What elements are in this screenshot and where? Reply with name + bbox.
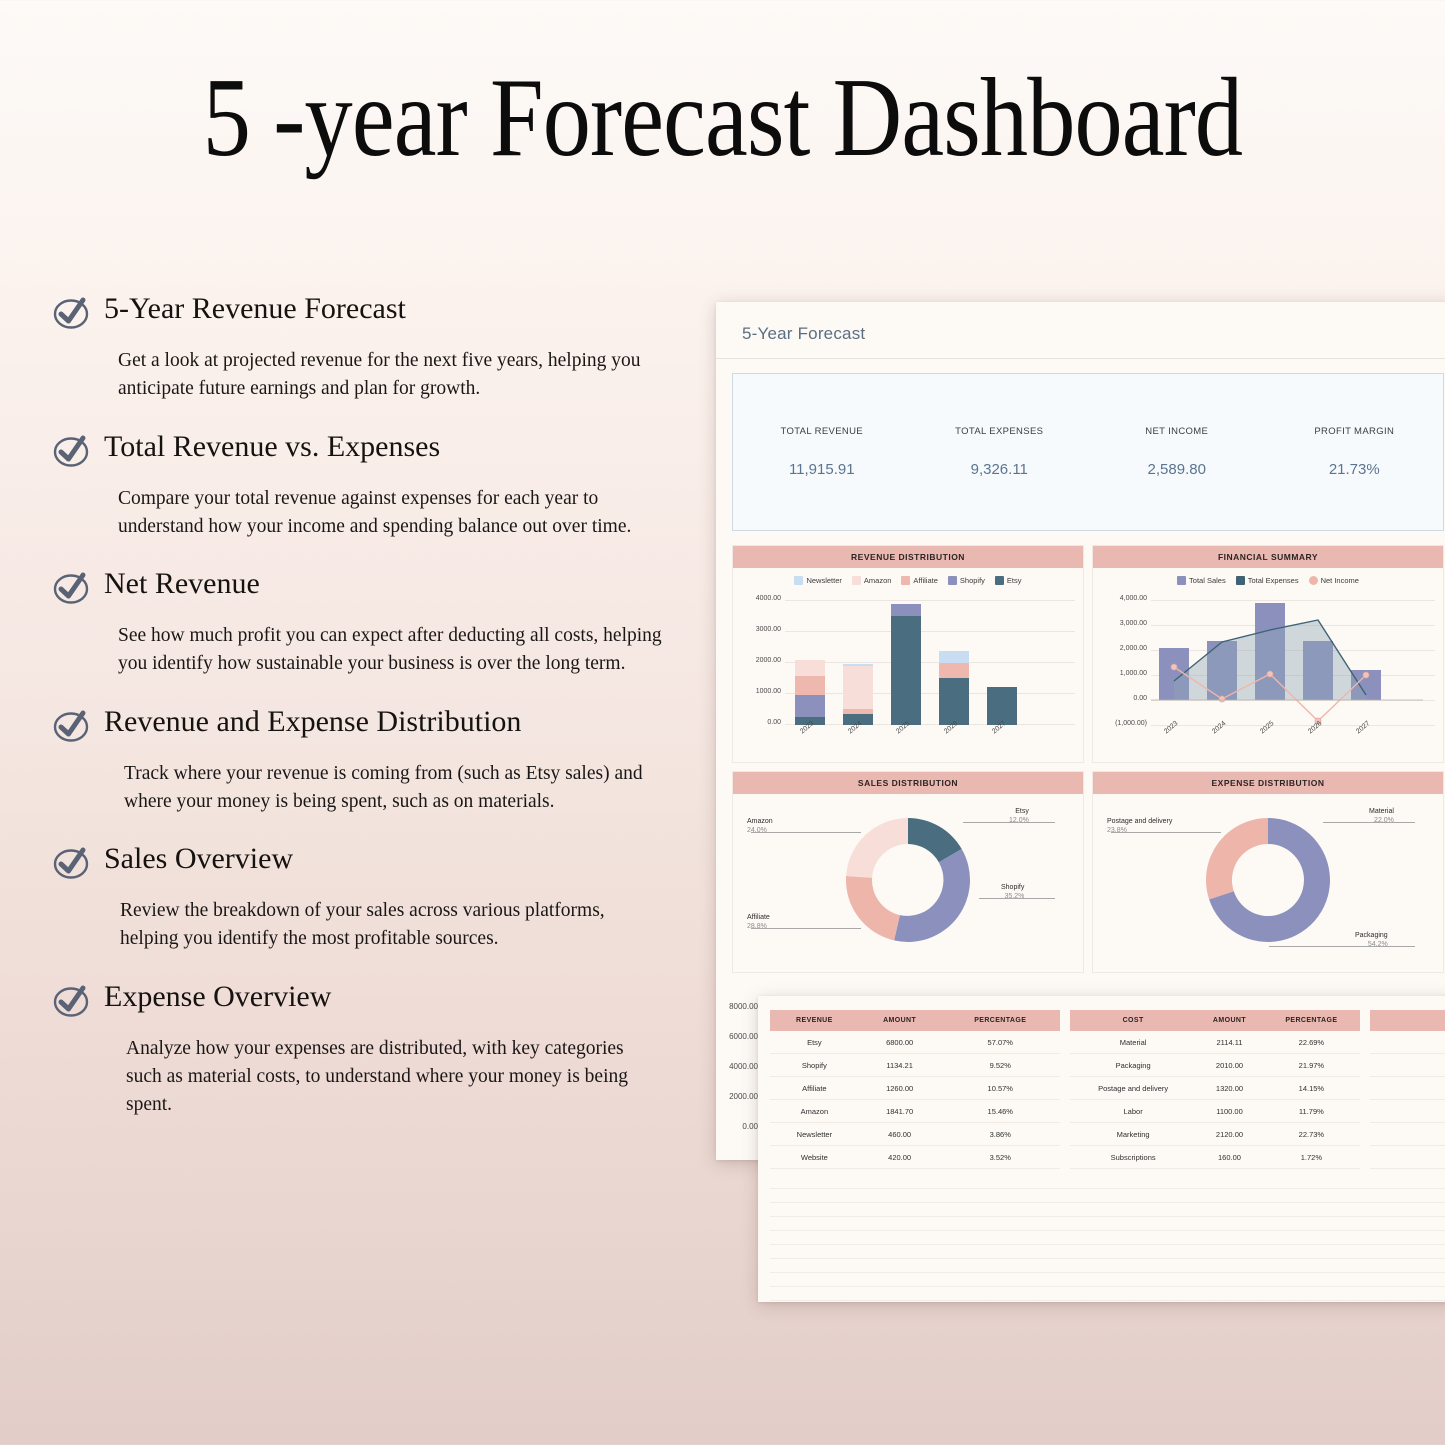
y-tick: 2000.00 (739, 657, 781, 664)
chart-card-revenue-distribution: REVENUE DISTRIBUTION Newsletter Amazon A… (732, 545, 1084, 763)
feature-item: Total Revenue vs. Expenses Compare your … (52, 430, 672, 542)
blank-rows-area (770, 1175, 1445, 1301)
dashboard-title: 5-Year Forecast (742, 324, 1434, 344)
feature-description: Track where your revenue is coming from … (124, 760, 656, 817)
kpi-label: TOTAL REVENUE (733, 426, 911, 437)
table-row: Amazon1841.7015.46% (770, 1100, 1060, 1123)
legend-item-etsy: Etsy (995, 576, 1022, 585)
legend-label: Etsy (1007, 576, 1022, 585)
table-row: Packaging2010.0021.97% (1070, 1054, 1360, 1077)
area-total-expenses (1174, 620, 1366, 700)
chart-card-grid: REVENUE DISTRIBUTION Newsletter Amazon A… (732, 545, 1444, 973)
blank-row (770, 1203, 1445, 1217)
feature-title: Revenue and Expense Distribution (104, 705, 521, 739)
table-row: Material2114.1122.69% (1070, 1031, 1360, 1054)
blank-row (770, 1231, 1445, 1245)
kpi-total-expenses: TOTAL EXPENSES 9,326.11 (911, 426, 1089, 478)
revenue-table: REVENUE AMOUNT PERCENTAGE Etsy6800.0057.… (770, 1010, 1060, 1169)
kpi-value: 21.73% (1266, 461, 1444, 478)
table-row: Labor1100.0011.79% (1070, 1100, 1360, 1123)
dashboard-panel-front: REVENUE AMOUNT PERCENTAGE Etsy6800.0057.… (758, 996, 1445, 1302)
feature-item: Net Revenue See how much profit you can … (52, 567, 672, 679)
pie-label-shopify: Shopify35.2% (1001, 884, 1024, 902)
chart-legend: Newsletter Amazon Affiliate Shopify (733, 568, 1083, 587)
feature-item: 5-Year Revenue Forecast Get a look at pr… (52, 292, 672, 404)
legend-item-amazon: Amazon (852, 576, 892, 585)
y-tick: 3000.00 (739, 626, 781, 633)
table-row: Affiliate1260.0010.57% (770, 1077, 1060, 1100)
chart-card-sales-distribution: SALES DISTRIBUTION (732, 771, 1084, 973)
check-circle-icon (52, 984, 90, 1023)
pie-label-material: Material22.0% (1369, 808, 1394, 826)
dashboard-mockup-stack: 5-Year Forecast TOTAL REVENUE 11,915.91 … (700, 290, 1445, 1310)
table-header-row: COST AMOUNT PERCENTAGE (1070, 1010, 1360, 1031)
chart-revenue-distribution: Newsletter Amazon Affiliate Shopify (733, 568, 1083, 762)
legend-swatch (794, 576, 803, 585)
chart-expense-distribution: Material22.0% Packaging54.2% Postage and… (1093, 794, 1443, 972)
pie-label-postage-and-delivery: Postage and delivery23.8% (1107, 818, 1172, 836)
legend-label: Amazon (864, 576, 892, 585)
chart-card-title: SALES DISTRIBUTION (733, 772, 1083, 794)
table-row: Marketing2120.0022.73% (1070, 1123, 1360, 1146)
tables-row: REVENUE AMOUNT PERCENTAGE Etsy6800.0057.… (758, 996, 1445, 1169)
pie-label-packaging: Packaging54.2% (1355, 932, 1388, 950)
bar-2025 (891, 604, 921, 725)
table-row (1370, 1123, 1445, 1146)
kpi-label: TOTAL EXPENSES (911, 426, 1089, 437)
slice-postage-and-delivery (1206, 818, 1268, 899)
pie-label-etsy: Etsy12.0% (1009, 808, 1029, 826)
column-header-amount: AMOUNT (859, 1010, 941, 1031)
legend-swatch (901, 576, 910, 585)
legend-label: Newsletter (806, 576, 841, 585)
donut-sales (733, 794, 1083, 972)
feature-title: Net Revenue (104, 567, 260, 601)
table-row (1370, 1054, 1445, 1077)
chart-card-title: REVENUE DISTRIBUTION (733, 546, 1083, 568)
y-tick: 1000.00 (739, 688, 781, 695)
cost-table: COST AMOUNT PERCENTAGE Material2114.1122… (1070, 1010, 1360, 1169)
pie-label-amazon: Amazon24.0% (747, 818, 773, 836)
legend-swatch (995, 576, 1004, 585)
feature-item: Expense Overview Analyze how your expens… (52, 980, 672, 1120)
blank-row (770, 1175, 1445, 1189)
table-row: Website420.003.52% (770, 1146, 1060, 1169)
table-row: Subscriptions160.001.72% (1070, 1146, 1360, 1169)
blank-row (770, 1217, 1445, 1231)
blank-row (770, 1287, 1445, 1301)
blank-row (770, 1259, 1445, 1273)
column-header-cost: COST (1070, 1010, 1196, 1031)
y-tick: 4000.00 (739, 595, 781, 602)
slice-affiliate (846, 876, 900, 940)
feature-title: 5-Year Revenue Forecast (104, 292, 406, 326)
table-row: Etsy6800.0057.07% (770, 1031, 1060, 1054)
table-row (1370, 1146, 1445, 1169)
bar-2024 (843, 664, 873, 725)
feature-description: Compare your total revenue against expen… (118, 485, 648, 542)
feature-title: Sales Overview (104, 842, 293, 876)
table-header-row: REVENUE AMOUNT PERCENTAGE (770, 1010, 1060, 1031)
legend-swatch (948, 576, 957, 585)
kpi-profit-margin: PROFIT MARGIN 21.73% (1266, 426, 1444, 478)
feature-description: Analyze how your expenses are distribute… (126, 1035, 646, 1120)
slice-shopify (894, 849, 970, 942)
pie-label-affiliate: Affiliate28.8% (747, 914, 770, 932)
column-header-percentage: PERCENTAGE (1263, 1010, 1360, 1031)
table-row (1370, 1100, 1445, 1123)
legend-item-shopify: Shopify (948, 576, 985, 585)
legend-label: Shopify (960, 576, 985, 585)
y-tick: 6000.00 (716, 1032, 758, 1041)
column-header-blank (1370, 1010, 1445, 1031)
feature-title: Total Revenue vs. Expenses (104, 430, 440, 464)
feature-description: See how much profit you can expect after… (118, 622, 670, 679)
kpi-value: 9,326.11 (911, 461, 1089, 478)
legend-item-affiliate: Affiliate (901, 576, 937, 585)
financial-summary-plot (1093, 568, 1443, 762)
bar-2023 (795, 660, 825, 725)
kpi-net-income: NET INCOME 2,589.80 (1088, 426, 1266, 478)
legend-swatch (852, 576, 861, 585)
check-circle-icon (52, 709, 90, 748)
table-row: Shopify1134.219.52% (770, 1054, 1060, 1077)
blank-row (770, 1273, 1445, 1287)
feature-description: Review the breakdown of your sales acros… (120, 897, 620, 954)
feature-title: Expense Overview (104, 980, 331, 1014)
check-circle-icon (52, 571, 90, 610)
y-tick: 2000.00 (716, 1092, 758, 1101)
third-table-partial (1370, 1010, 1445, 1169)
feature-item: Sales Overview Review the breakdown of y… (52, 842, 672, 954)
kpi-total-revenue: TOTAL REVENUE 11,915.91 (733, 426, 911, 478)
kpi-row: TOTAL REVENUE 11,915.91 TOTAL EXPENSES 9… (732, 373, 1444, 531)
check-circle-icon (52, 846, 90, 885)
table-row (1370, 1077, 1445, 1100)
chart-card-title: EXPENSE DISTRIBUTION (1093, 772, 1443, 794)
table-row: Newsletter460.003.86% (770, 1123, 1060, 1146)
y-tick: 0.00 (739, 719, 781, 726)
column-header-revenue: REVENUE (770, 1010, 859, 1031)
blank-row (770, 1245, 1445, 1259)
table-row: Postage and delivery1320.0014.15% (1070, 1077, 1360, 1100)
dashboard-header: 5-Year Forecast (716, 302, 1445, 359)
check-circle-icon (52, 434, 90, 473)
y-tick: 8000.00 (716, 1002, 758, 1011)
check-circle-icon (52, 296, 90, 335)
kpi-value: 2,589.80 (1088, 461, 1266, 478)
blank-row (770, 1189, 1445, 1203)
y-tick: 4000.00 (716, 1062, 758, 1071)
page-title: 5 -year Forecast Dashboard (101, 62, 1344, 174)
kpi-label: PROFIT MARGIN (1266, 426, 1444, 437)
feature-list: 5-Year Revenue Forecast Get a look at pr… (52, 292, 672, 1145)
kpi-value: 11,915.91 (733, 461, 911, 478)
chart-card-title: FINANCIAL SUMMARY (1093, 546, 1443, 568)
chart-card-expense-distribution: EXPENSE DISTRIBUTION (1092, 771, 1444, 973)
legend-item-newsletter: Newsletter (794, 576, 841, 585)
column-header-amount: AMOUNT (1196, 1010, 1263, 1031)
chart-card-financial-summary: FINANCIAL SUMMARY Total Sales Total Expe… (1092, 545, 1444, 763)
column-header-percentage: PERCENTAGE (941, 1010, 1061, 1031)
chart-sales-distribution: Etsy12.0% Shopify35.2% Affiliate28.8% Am… (733, 794, 1083, 972)
chart-financial-summary: Total Sales Total Expenses Net Income (1093, 568, 1443, 762)
kpi-label: NET INCOME (1088, 426, 1266, 437)
slice-amazon (846, 818, 908, 878)
legend-label: Affiliate (913, 576, 937, 585)
bar-2026 (939, 651, 969, 725)
feature-item: Revenue and Expense Distribution Track w… (52, 705, 672, 817)
y-tick: 0.00 (716, 1122, 758, 1131)
feature-description: Get a look at projected revenue for the … (118, 347, 648, 404)
table-row (1370, 1031, 1445, 1054)
